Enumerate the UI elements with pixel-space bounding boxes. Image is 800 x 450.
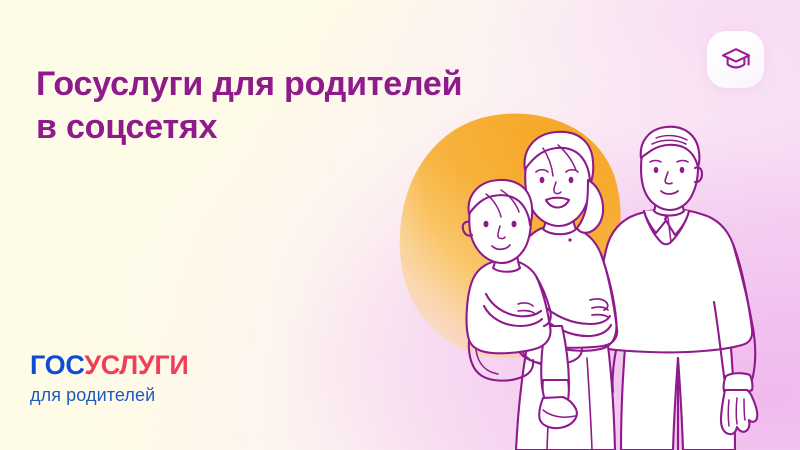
logo-wordmark: ГОСУСЛУГИ <box>30 352 188 379</box>
banner-canvas: Госуслуги для родителей в соцсетях <box>0 0 800 450</box>
logo-uslugi-text: УСЛУГИ <box>84 350 188 380</box>
gosuslugi-logo[interactable]: ГОСУСЛУГИ для родителей <box>30 352 188 404</box>
graduation-badge[interactable] <box>707 31 764 88</box>
page-title: Госуслуги для родителей в соцсетях <box>36 63 556 150</box>
logo-subtitle: для родителей <box>30 386 188 404</box>
family-illustration <box>430 118 800 450</box>
logo-gos-text: ГОС <box>30 350 84 380</box>
graduation-cap-icon <box>721 47 751 73</box>
